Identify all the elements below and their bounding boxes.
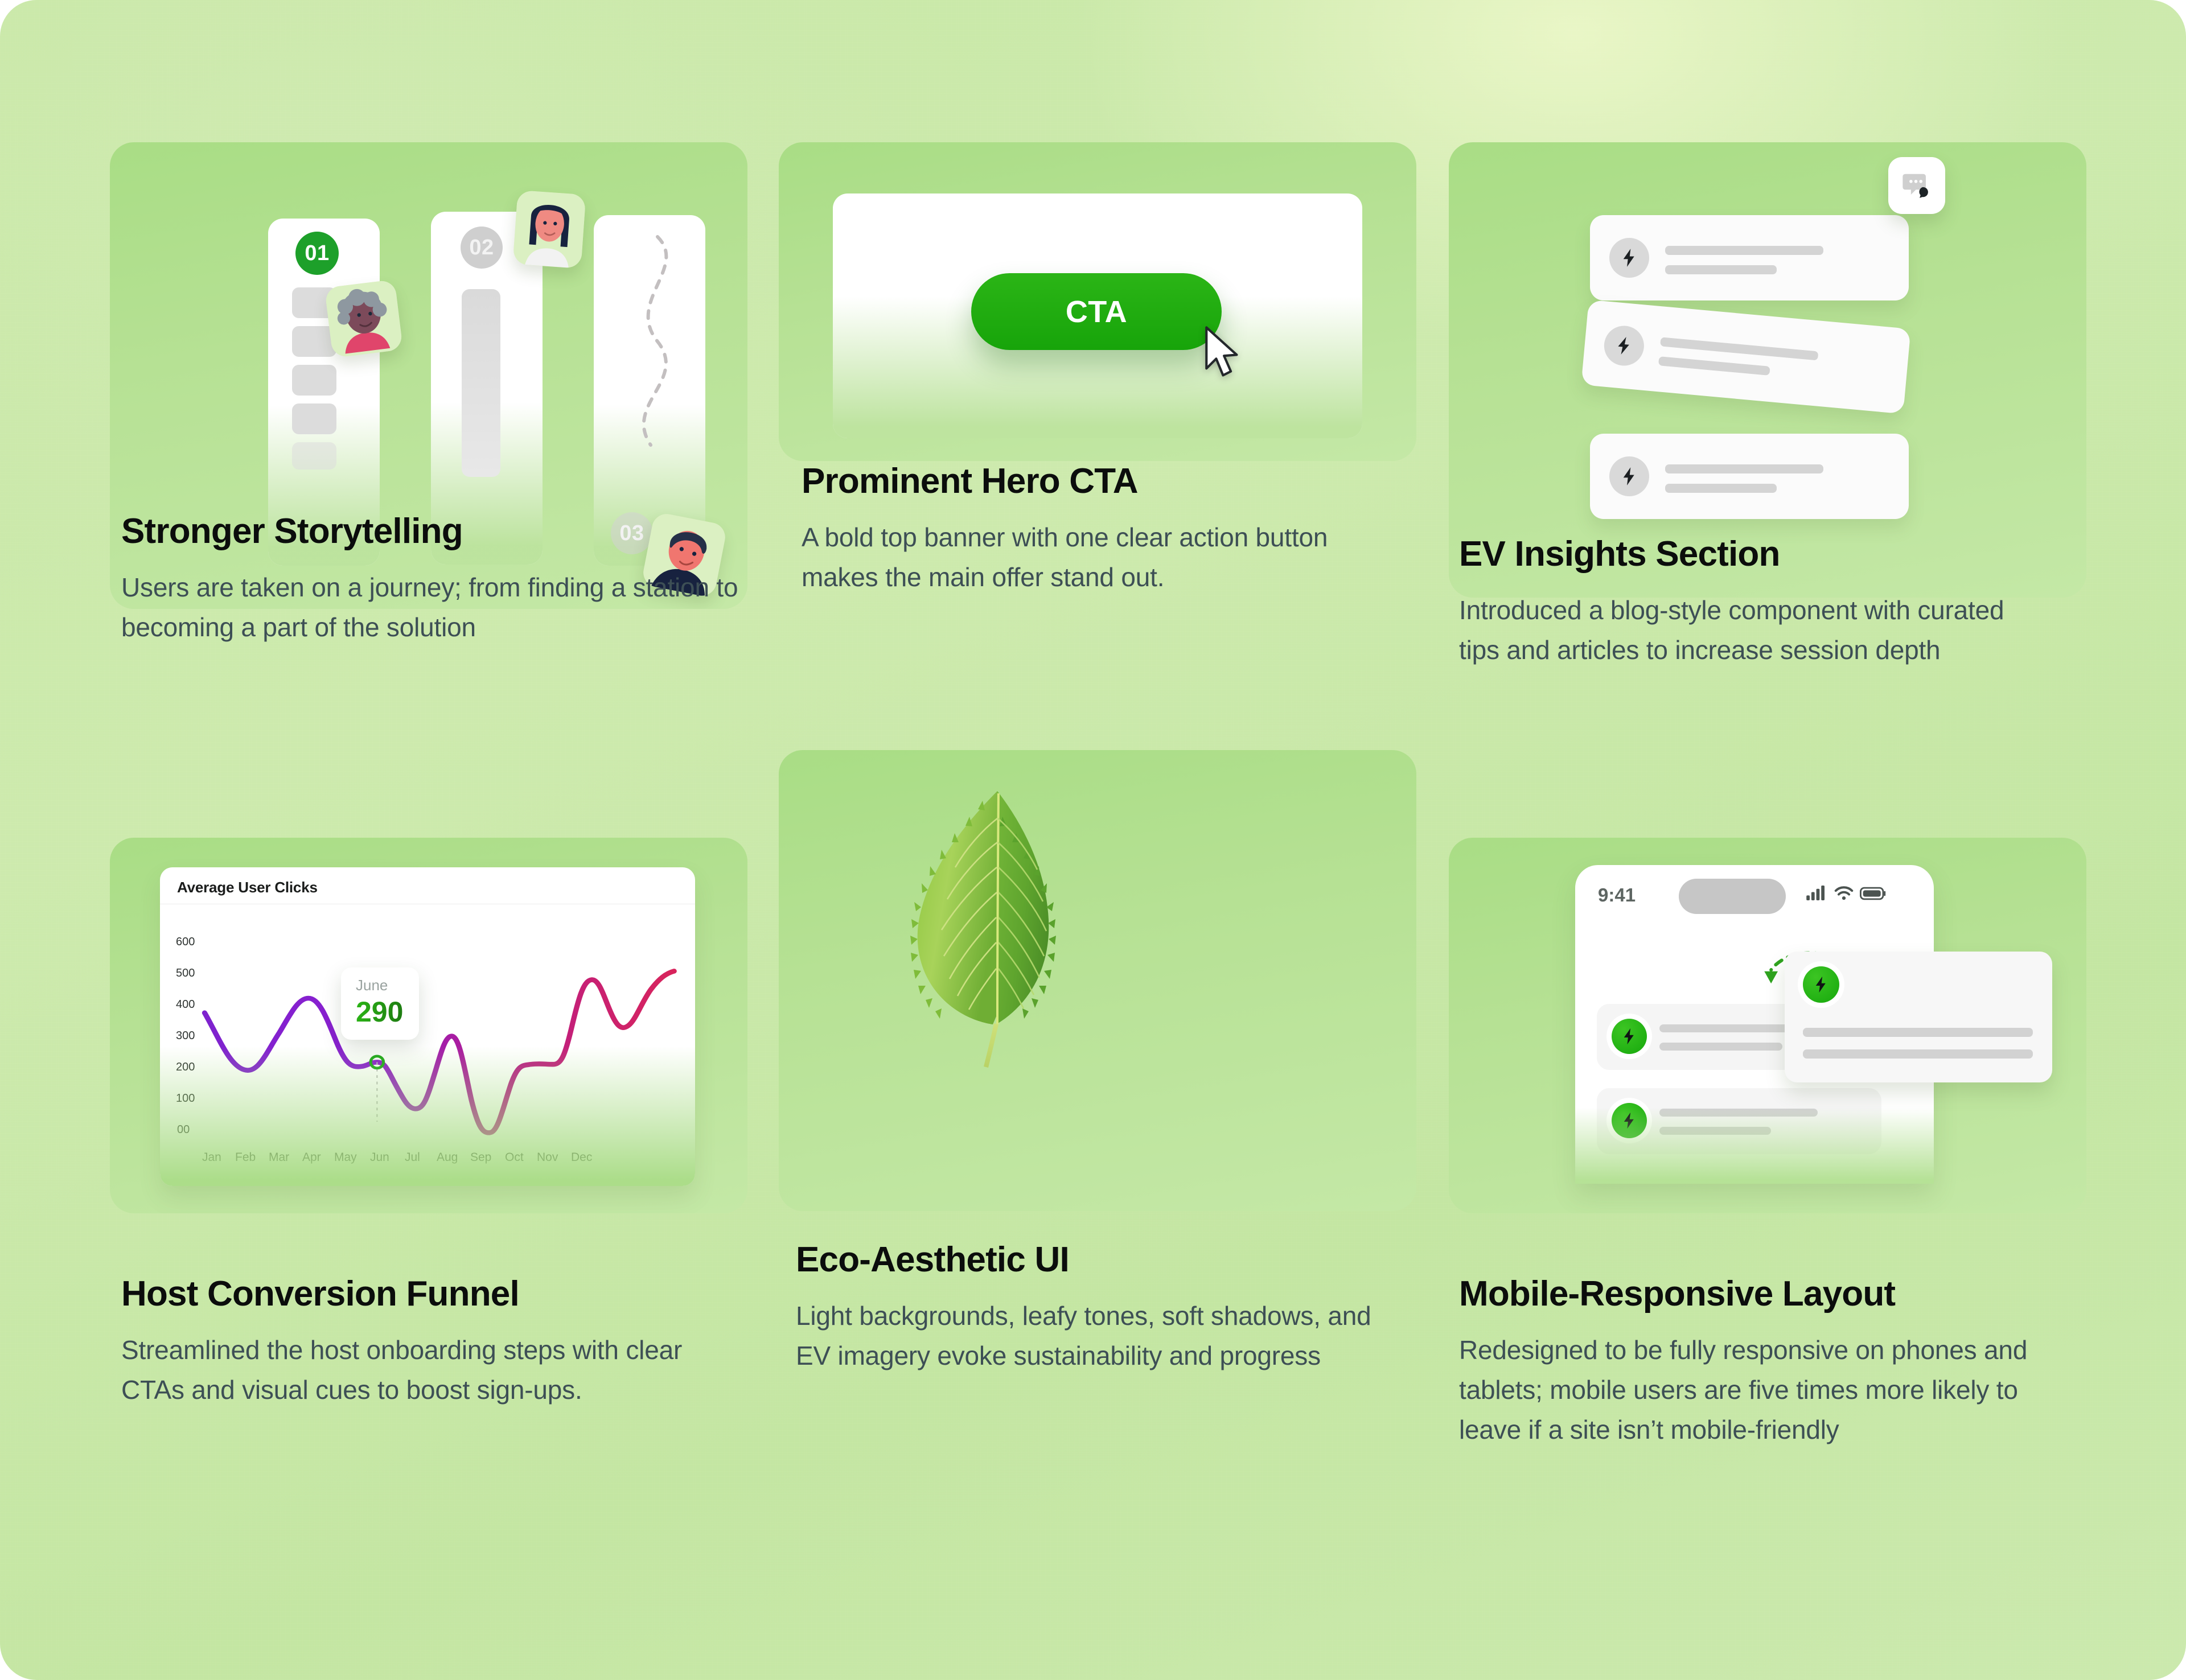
- battery-icon: [1860, 887, 1887, 900]
- text-placeholder-bar: [1659, 1024, 1801, 1032]
- dynamic-island: [1679, 879, 1786, 914]
- text-placeholder-bar: [1659, 1043, 1782, 1051]
- status-bar-time: 9:41: [1598, 884, 1636, 906]
- text-placeholder-bar: [1665, 464, 1823, 473]
- bolt-icon: [1612, 334, 1636, 357]
- chart-title: Average User Clicks: [177, 879, 318, 896]
- card-eco-aesthetic-ui-text: Eco-Aesthetic UI Light backgrounds, leaf…: [796, 1241, 1416, 1376]
- x-tick: Nov: [537, 1151, 558, 1164]
- bolt-icon-wrap: [1612, 1019, 1647, 1054]
- card-body: Light backgrounds, leafy tones, soft sha…: [796, 1296, 1388, 1376]
- list-item[interactable]: [1597, 1088, 1881, 1154]
- avatar: [324, 279, 403, 358]
- placeholder-block: [292, 403, 336, 434]
- x-tick: Dec: [571, 1151, 592, 1164]
- chart-tooltip: June 290: [341, 967, 419, 1040]
- x-tick: Jun: [370, 1151, 389, 1164]
- card-body: Introduced a blog-style component with c…: [1459, 591, 2045, 670]
- text-placeholder-bar: [1659, 1127, 1771, 1135]
- card-body: Redesigned to be fully responsive on pho…: [1459, 1331, 2062, 1450]
- text-placeholder-bar: [1659, 1109, 1818, 1117]
- card-title: Prominent Hero CTA: [802, 462, 1416, 501]
- x-tick: Aug: [437, 1151, 458, 1164]
- card-title: EV Insights Section: [1459, 535, 2097, 574]
- x-tick: Jan: [202, 1151, 221, 1164]
- placeholder-progress-bar: [462, 289, 500, 477]
- floating-card[interactable]: [1785, 952, 2052, 1082]
- x-tick: Feb: [235, 1151, 256, 1164]
- card-mobile-responsive-layout[interactable]: 9:41: [1449, 838, 2086, 1213]
- y-tick: 00: [177, 1123, 190, 1137]
- bolt-icon-wrap: [1609, 456, 1649, 496]
- tooltip-month: June: [356, 977, 403, 994]
- step-badge-02-label: 02: [469, 236, 494, 260]
- placeholder-block: [292, 365, 336, 396]
- step-badge-02: 02: [461, 227, 503, 269]
- dashed-path-icon: [603, 233, 717, 461]
- card-title: Mobile-Responsive Layout: [1459, 1275, 2097, 1313]
- y-tick: 200: [176, 1061, 195, 1074]
- bolt-icon: [1618, 247, 1640, 269]
- page-root: 01 02 03: [0, 0, 2186, 1680]
- chat-bubble-icon: [1900, 169, 1933, 202]
- x-tick: Jul: [405, 1151, 420, 1164]
- signal-icon: [1806, 886, 1828, 900]
- card-body: Users are taken on a journey; from findi…: [121, 568, 742, 648]
- text-placeholder-bar: [1803, 1049, 2033, 1059]
- card-prominent-hero-cta[interactable]: CTA: [779, 142, 1416, 461]
- chart-plot: [193, 907, 694, 1135]
- x-tick: Oct: [505, 1151, 524, 1164]
- article-row[interactable]: [1590, 434, 1909, 519]
- bolt-icon-wrap: [1609, 238, 1649, 278]
- wifi-icon: [1834, 886, 1854, 900]
- card-title: Stronger Storytelling: [121, 512, 753, 551]
- card-prominent-hero-cta-text: Prominent Hero CTA A bold top banner wit…: [802, 462, 1416, 598]
- card-body: A bold top banner with one clear action …: [802, 518, 1376, 598]
- article-rows-illustration: [1449, 142, 2086, 598]
- cta-button[interactable]: CTA: [971, 273, 1222, 350]
- chat-bubble-badge[interactable]: [1888, 157, 1945, 214]
- step-badge-01-label: 01: [305, 241, 329, 266]
- card-host-conversion-funnel-text: Host Conversion Funnel Streamlined the h…: [121, 1275, 753, 1410]
- card-ev-insights-section-text: EV Insights Section Introduced a blog-st…: [1459, 535, 2097, 670]
- card-ev-insights-section[interactable]: [1449, 142, 2086, 598]
- phone-mock-illustration: 9:41: [1449, 838, 2086, 1213]
- card-eco-aesthetic-ui[interactable]: [779, 750, 1416, 1211]
- bolt-icon: [1618, 466, 1640, 487]
- x-tick: Mar: [269, 1151, 289, 1164]
- avatar-woman-grey-hair-icon: [324, 279, 403, 358]
- arrow-pointer-icon: [1201, 326, 1241, 380]
- placeholder-block: [292, 442, 336, 470]
- avatar-woman-dark-hair-icon: [513, 190, 586, 269]
- y-tick: 500: [176, 967, 195, 980]
- chart-divider: [160, 904, 695, 904]
- card-title: Host Conversion Funnel: [121, 1275, 753, 1313]
- bolt-icon: [1620, 1111, 1639, 1130]
- feature-card-grid: 01 02 03: [0, 0, 2186, 1680]
- text-placeholder-bar: [1665, 246, 1823, 255]
- text-placeholder-bar: [1803, 1028, 2033, 1037]
- leaf-illustration: [779, 750, 1416, 1211]
- y-tick: 300: [176, 1030, 195, 1043]
- text-placeholder-bar: [1665, 484, 1777, 493]
- cta-button-label: CTA: [1066, 294, 1127, 330]
- y-tick: 400: [176, 998, 195, 1011]
- tooltip-value: 290: [356, 995, 403, 1028]
- hero-banner-illustration: CTA: [779, 142, 1416, 461]
- x-tick: Apr: [302, 1151, 321, 1164]
- bolt-icon-wrap: [1803, 966, 1839, 1003]
- bolt-icon: [1811, 975, 1831, 994]
- green-leaf-icon: [876, 779, 1115, 1074]
- step-badge-01: 01: [295, 232, 339, 275]
- text-placeholder-bar: [1658, 356, 1770, 376]
- x-tick: May: [334, 1151, 357, 1164]
- bolt-icon-wrap: [1602, 324, 1646, 367]
- card-mobile-responsive-layout-text: Mobile-Responsive Layout Redesigned to b…: [1459, 1275, 2097, 1450]
- card-title: Eco-Aesthetic UI: [796, 1241, 1416, 1279]
- chart-widget[interactable]: Average User Clicks 600 500 400 300 200 …: [160, 867, 695, 1186]
- text-placeholder-bar: [1665, 265, 1777, 274]
- y-tick: 100: [176, 1092, 195, 1105]
- bolt-icon-wrap: [1612, 1103, 1647, 1138]
- avatar: [513, 190, 586, 269]
- card-stronger-storytelling-text: Stronger Storytelling Users are taken on…: [121, 512, 753, 648]
- card-body: Streamlined the host onboarding steps wi…: [121, 1331, 713, 1410]
- text-placeholder-bar: [1660, 337, 1818, 360]
- bolt-icon: [1620, 1027, 1639, 1046]
- article-row[interactable]: [1581, 300, 1910, 414]
- card-host-conversion-funnel[interactable]: Average User Clicks 600 500 400 300 200 …: [110, 838, 747, 1213]
- y-tick: 600: [176, 936, 195, 949]
- article-row[interactable]: [1590, 215, 1909, 300]
- x-tick: Sep: [470, 1151, 491, 1164]
